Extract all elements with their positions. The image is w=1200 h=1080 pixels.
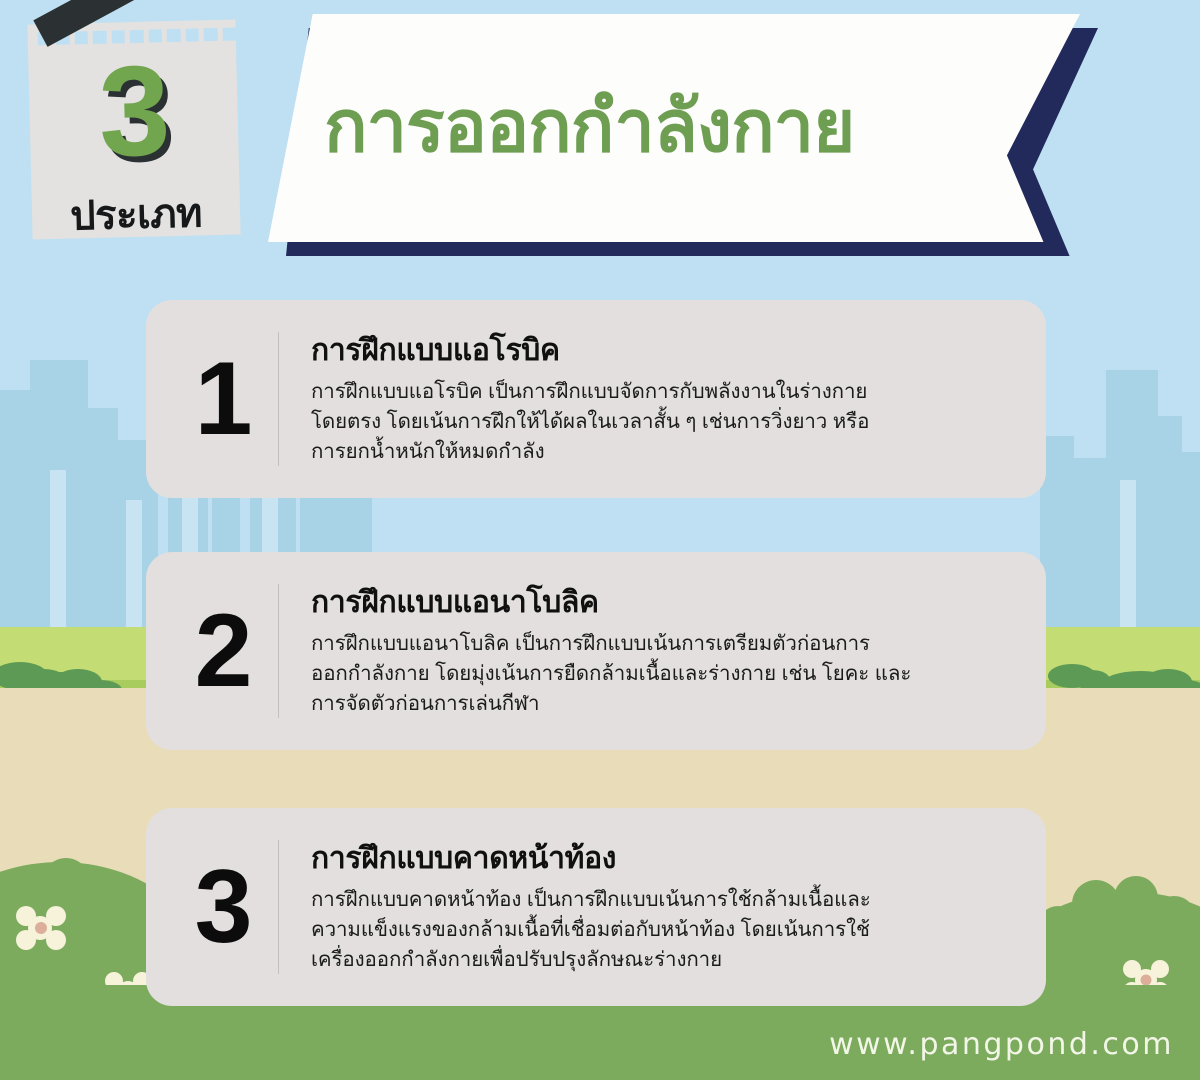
banner-face: การออกกำลังกาย — [268, 14, 1080, 242]
card-description: การฝึกแบบแอนาโบลิค เป็นการฝึกแบบเน้นการเ… — [311, 629, 1020, 718]
card-body: การฝึกแบบแอโรบิค การฝึกแบบแอโรบิค เป็นกา… — [279, 322, 1020, 476]
infographic-poster: 3 ประเภท การออกกำลังกาย 1 การฝึกแบบแอโรบ… — [0, 0, 1200, 1080]
card-number: 2 — [166, 574, 278, 728]
card-body: การฝึกแบบคาดหน้าท้อง การฝึกแบบคาดหน้าท้อ… — [279, 830, 1020, 984]
page-title: การออกกำลังกาย — [324, 90, 854, 166]
card-description: การฝึกแบบคาดหน้าท้อง เป็นการฝึกแบบเน้นกา… — [311, 885, 1020, 974]
header-banner: การออกกำลังกาย — [268, 14, 1098, 254]
card-heading: การฝึกแบบแอโรบิค — [311, 332, 1020, 370]
card-heading: การฝึกแบบแอนาโบลิค — [311, 584, 1020, 622]
card-number: 1 — [166, 322, 278, 476]
note-count-number: 3 — [28, 45, 239, 178]
sticky-note-badge: 3 ประเภท — [27, 19, 240, 239]
list-item: 3 การฝึกแบบคาดหน้าท้อง การฝึกแบบคาดหน้าท… — [146, 808, 1046, 1006]
card-description: การฝึกแบบแอโรบิค เป็นการฝึกแบบจัดการกับพ… — [311, 377, 1020, 466]
list-item: 2 การฝึกแบบแอนาโบลิค การฝึกแบบแอนาโบลิค … — [146, 552, 1046, 750]
list-item: 1 การฝึกแบบแอโรบิค การฝึกแบบแอโรบิค เป็น… — [146, 300, 1046, 498]
note-count-label: ประเภท — [31, 179, 241, 248]
card-body: การฝึกแบบแอนาโบลิค การฝึกแบบแอนาโบลิค เป… — [279, 574, 1020, 728]
card-number: 3 — [166, 830, 278, 984]
site-watermark: www.pangpond.com — [829, 1027, 1174, 1062]
card-heading: การฝึกแบบคาดหน้าท้อง — [311, 840, 1020, 878]
